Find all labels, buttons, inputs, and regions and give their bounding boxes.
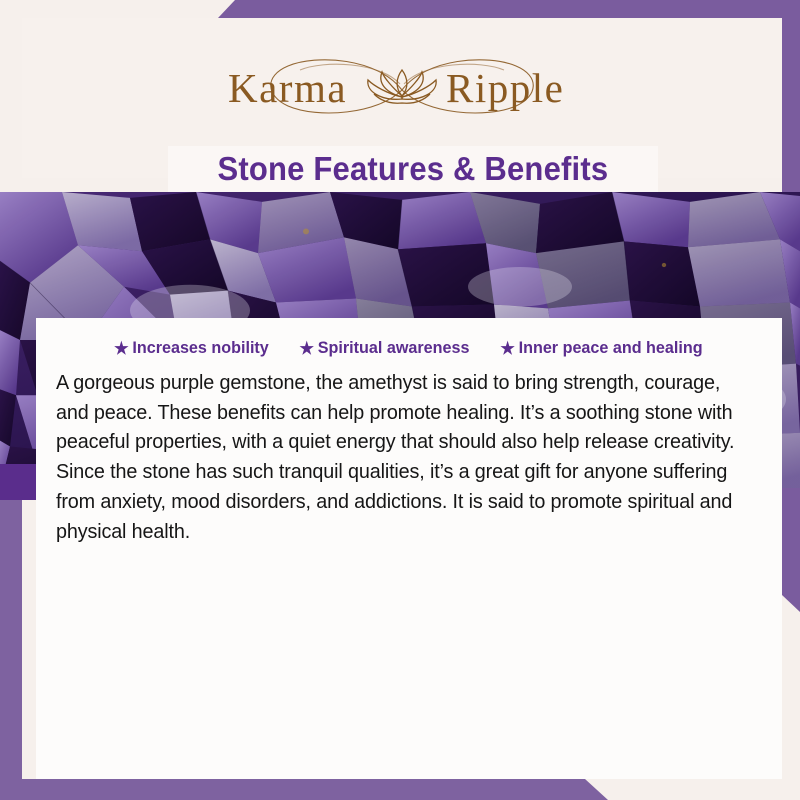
- star-icon: ★: [501, 340, 515, 357]
- frame-accent-top: [218, 0, 800, 18]
- star-icon: ★: [299, 340, 313, 357]
- benefit-label: Spiritual awareness: [317, 338, 469, 358]
- brand-name-left: Karma: [228, 65, 347, 111]
- lotus-icon: [368, 70, 436, 103]
- page-title: Stone Features & Benefits: [218, 150, 609, 188]
- frame-accent-left: [0, 490, 22, 800]
- star-icon: ★: [114, 340, 128, 357]
- benefit-label: Inner peace and healing: [519, 338, 703, 358]
- brand-name-right: Ripple: [446, 65, 564, 111]
- benefits-row: ★ Increases nobility ★ Spiritual awarene…: [36, 318, 782, 362]
- benefit-label: Increases nobility: [132, 338, 268, 358]
- title-band: Stone Features & Benefits: [168, 146, 658, 192]
- benefit-item: ★ Inner peace and healing: [501, 338, 703, 358]
- brand-logo: Karma Ripple: [192, 44, 612, 136]
- content-panel: ★ Increases nobility ★ Spiritual awarene…: [36, 318, 782, 779]
- benefit-item: ★ Increases nobility: [114, 338, 269, 358]
- poster-root: Karma Ripple Stone Features & Benefits: [0, 0, 800, 800]
- stone-description: A gorgeous purple gemstone, the amethyst…: [56, 368, 737, 546]
- frame-accent-bottom: [0, 779, 608, 800]
- benefit-item: ★ Spiritual awareness: [299, 338, 469, 358]
- poster-card: Karma Ripple Stone Features & Benefits: [22, 18, 782, 779]
